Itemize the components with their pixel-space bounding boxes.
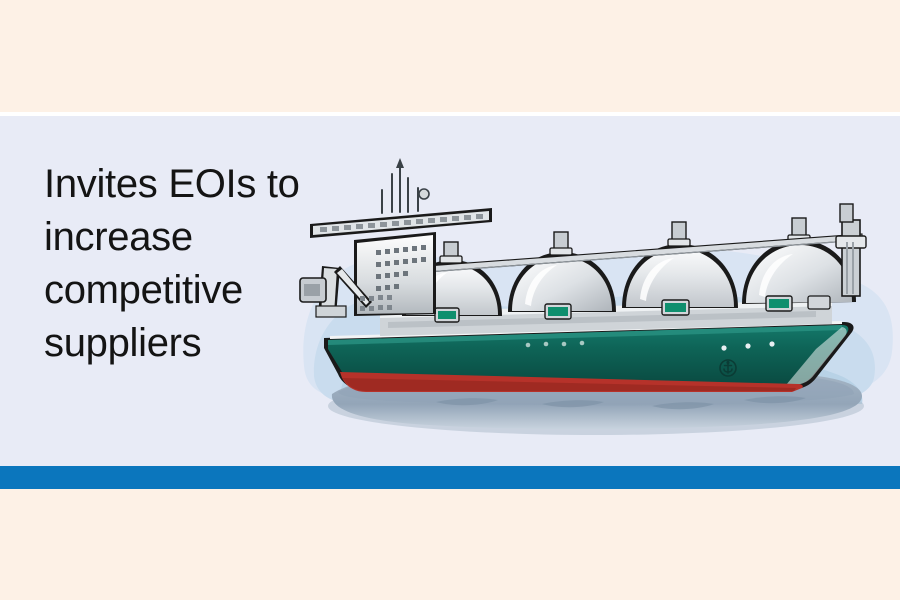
- main-illustration-panel: Invites EOIs to increase competitive sup…: [0, 116, 900, 466]
- antenna-mast: [382, 166, 418, 213]
- accent-blue-bar: [0, 466, 900, 489]
- banner-canvas: Invites EOIs to increase competitive sup…: [0, 0, 900, 600]
- bottom-cream-band: [0, 489, 900, 600]
- lng-carrier-illustration: [296, 116, 900, 466]
- top-cream-band: [0, 0, 900, 112]
- lng-tank-4: [742, 240, 856, 311]
